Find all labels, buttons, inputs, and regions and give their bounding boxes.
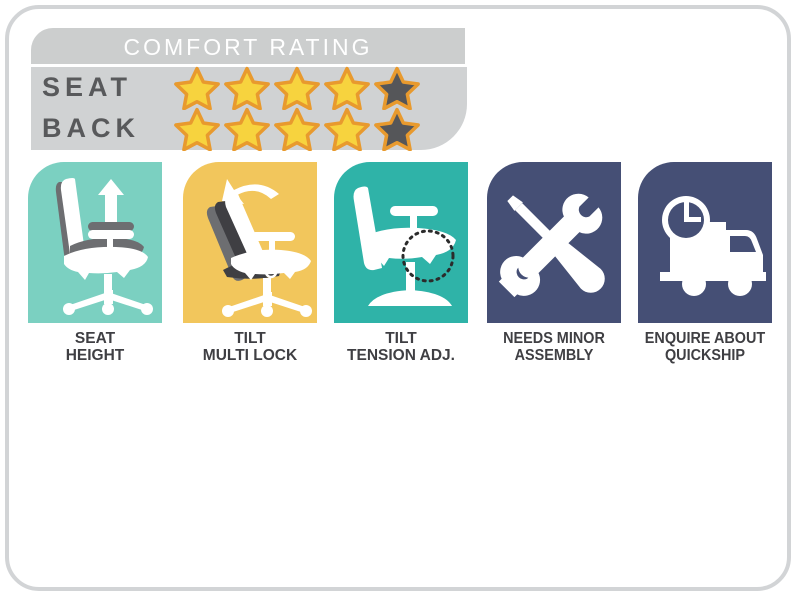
feature-label-line1: TILT xyxy=(234,330,266,347)
feature-tile-label-tilt-tension-adj: TILT TENSION ADJ. xyxy=(334,330,468,365)
tilt-multi-lock-tile-art xyxy=(183,162,317,323)
star-filled-icon xyxy=(224,107,270,151)
feature-tile-label-enquire-about-quickship: ENQUIRE ABOUT QUICKSHIP xyxy=(643,330,768,365)
feature-label-line1: SEAT xyxy=(75,330,115,347)
star-empty-icon xyxy=(374,107,420,151)
star-filled-icon xyxy=(274,66,320,110)
needs-assembly-tile-art xyxy=(487,162,621,323)
rating-row-back: BACK xyxy=(31,108,467,149)
star-filled-icon xyxy=(174,66,220,110)
feature-label-line2: HEIGHT xyxy=(28,347,162,364)
product-feature-panel: COMFORT RATING SEAT BACK xyxy=(0,0,800,600)
feature-label-line2: QUICKSHIP xyxy=(643,347,768,364)
office-chair-tilt-arrow-icon xyxy=(183,162,317,323)
star-filled-icon xyxy=(324,107,370,151)
star-filled-icon xyxy=(174,107,220,151)
feature-tile-enquire-about-quickship[interactable]: ENQUIRE ABOUT QUICKSHIP xyxy=(638,162,772,365)
feature-tile-tilt-tension-adj[interactable]: TILT TENSION ADJ. xyxy=(334,162,468,365)
quickship-tile-art xyxy=(638,162,772,323)
feature-tile-seat-height[interactable]: SEAT HEIGHT xyxy=(28,162,162,365)
star-rating-back xyxy=(174,107,420,151)
comfort-rating-title-bar: COMFORT RATING xyxy=(31,28,465,64)
star-filled-icon xyxy=(274,107,320,151)
rating-row-label-seat: SEAT xyxy=(31,74,174,101)
wrench-screwdriver-icon xyxy=(487,162,621,323)
star-filled-icon xyxy=(224,66,270,110)
feature-label-line2: MULTI LOCK xyxy=(183,347,317,364)
office-chair-up-arrow-icon xyxy=(28,162,162,323)
feature-label-line2: ASSEMBLY xyxy=(492,347,617,364)
tilt-tension-tile-art xyxy=(334,162,468,323)
feature-label-line1: ENQUIRE ABOUT xyxy=(645,330,765,347)
delivery-truck-clock-icon xyxy=(638,162,772,323)
star-rating-seat xyxy=(174,66,420,110)
comfort-rating-panel: COMFORT RATING SEAT BACK xyxy=(31,28,467,150)
feature-label-line1: NEEDS MINOR xyxy=(503,330,605,347)
feature-tile-tilt-multi-lock[interactable]: TILT MULTI LOCK xyxy=(183,162,317,365)
feature-tile-row: SEAT HEIGHT xyxy=(0,162,800,372)
feature-tile-label-tilt-multi-lock: TILT MULTI LOCK xyxy=(183,330,317,365)
feature-label-line2: TENSION ADJ. xyxy=(334,347,468,364)
comfort-rating-title: COMFORT RATING xyxy=(31,34,465,61)
rating-row-seat: SEAT xyxy=(31,67,467,108)
feature-tile-needs-minor-assembly[interactable]: NEEDS MINOR ASSEMBLY xyxy=(487,162,621,365)
rating-row-label-back: BACK xyxy=(31,115,174,142)
comfort-rating-body: SEAT BACK xyxy=(31,67,467,150)
star-empty-icon xyxy=(374,66,420,110)
feature-tile-label-needs-minor-assembly: NEEDS MINOR ASSEMBLY xyxy=(492,330,617,365)
seat-height-tile-art xyxy=(28,162,162,323)
office-chair-tension-knob-icon xyxy=(334,162,468,323)
star-filled-icon xyxy=(324,66,370,110)
feature-tile-label-seat-height: SEAT HEIGHT xyxy=(28,330,162,365)
feature-label-line1: TILT xyxy=(385,330,417,347)
